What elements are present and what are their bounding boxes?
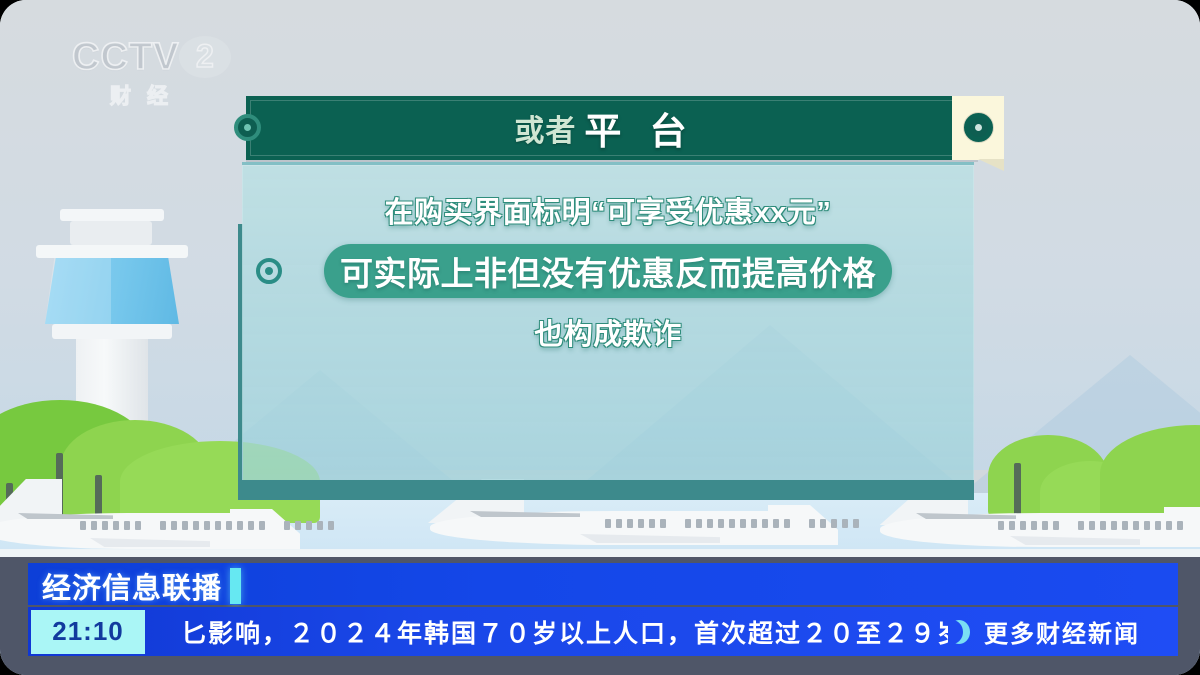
panel-line: 在购买界面标明“可享受优惠xx元” — [242, 184, 974, 236]
panel-line-highlight-pill: 可实际上非但没有优惠反而提高价格 — [324, 244, 892, 298]
program-bar: 经济信息联播 — [28, 563, 1178, 605]
ticker-time-box: 21:10 — [31, 610, 145, 654]
panel-header-corner-tab — [952, 96, 1004, 160]
panel-header-text: 或者 平 台 — [246, 96, 978, 160]
cctv-subtitle: 财经 — [110, 80, 184, 110]
cctv-channel-number-badge: 2 — [179, 36, 231, 78]
info-panel: 或者 平 台 在购买界面标明“可享受优惠xx元” 可实际上非但没有优惠反而提高价… — [238, 96, 978, 489]
panel-header-prefix: 或者 — [514, 106, 576, 150]
runway-strip — [0, 549, 1200, 557]
cctv-channel-logo: CCTV 2 财经 — [72, 38, 237, 114]
program-title: 经济信息联播 — [42, 565, 222, 607]
panel-line-highlighted: 可实际上非但没有优惠反而提高价格 — [242, 242, 974, 300]
program-title-wrap: 经济信息联播 — [42, 565, 241, 607]
panel-content-lines: 在购买界面标明“可享受优惠xx元” 可实际上非但没有优惠反而提高价格 也构成欺诈 — [242, 162, 974, 480]
panel-header-main: 平 台 — [584, 101, 695, 155]
panel-line-text: 在购买界面标明“可享受优惠xx元” — [385, 189, 832, 231]
program-accent-bar — [230, 568, 241, 604]
crescent-moon-icon — [948, 620, 970, 644]
panel-line-text: 也构成欺诈 — [534, 311, 682, 353]
broadcast-frame: CCTV 2 财经 或者 平 台 在购买界面标明“可享受优惠xx元” — [0, 0, 1200, 675]
ticker-time-text: 21:10 — [52, 616, 124, 647]
panel-base-bar — [242, 480, 974, 500]
ring-bullet-icon — [256, 258, 282, 284]
lower-third-bottom-shade — [0, 659, 1200, 675]
screw-ring-icon — [964, 113, 993, 142]
panel-line: 也构成欺诈 — [242, 306, 974, 358]
news-ticker: 21:10 匕影响，２０２４年韩国７０岁以上人口，首次超过２０至２９岁年龄段人口… — [28, 607, 1178, 656]
cctv-channel-number: 2 — [196, 38, 214, 75]
more-news-label: 更多财经新闻 — [984, 614, 1140, 649]
more-news-group[interactable]: 更多财经新闻 — [948, 614, 1178, 649]
panel-header: 或者 平 台 — [246, 96, 978, 160]
lower-third: 经济信息联播 21:10 匕影响，２０２４年韩国７０岁以上人口，首次超过２０至２… — [0, 557, 1200, 675]
panel-line-text: 可实际上非但没有优惠反而提高价格 — [340, 247, 876, 295]
ticker-headline-text: 匕影响，２０２４年韩国７０岁以上人口，首次超过２０至２９岁年龄段人口。 — [145, 614, 948, 650]
